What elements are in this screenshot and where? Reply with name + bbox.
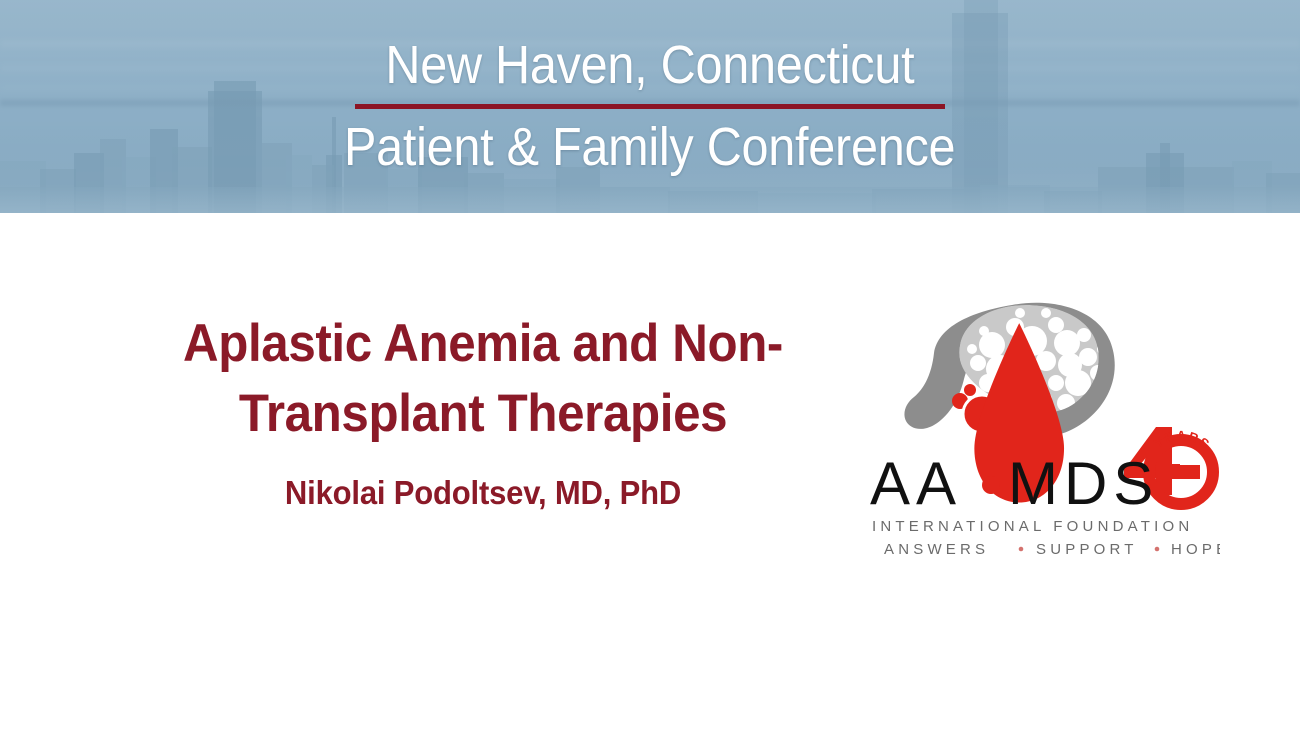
logo-tagline-secondary: ANSWERS: [884, 541, 989, 558]
wordmark-mds: MDS: [1008, 450, 1159, 517]
banner-divider-rule: [355, 104, 945, 109]
banner-conference-line: Patient & Family Conference: [344, 120, 955, 175]
tagline-dot-icon-2: [1155, 547, 1160, 552]
header-banner: New Haven, Connecticut Patient & Family …: [0, 0, 1300, 213]
logo-tagline-primary: INTERNATIONAL FOUNDATION: [872, 518, 1193, 535]
slide-root: New Haven, Connecticut Patient & Family …: [0, 0, 1300, 731]
wordmark-aa: AA: [870, 450, 962, 517]
wordmark-dot-icon: [982, 476, 1000, 494]
aamds-wordmark: AA MDS: [870, 450, 1159, 517]
banner-text-group: New Haven, Connecticut Patient & Family …: [0, 0, 1300, 213]
title-block: Aplastic Anemia and Non- Transplant Ther…: [30, 309, 936, 512]
tagline-dot-icon: [1019, 547, 1024, 552]
page-title-line-2: Transplant Therapies: [62, 379, 905, 449]
aamds-logo: YEARS AA MDS INTERNATIONAL FOUNDATION AN…: [860, 283, 1220, 573]
logo-tagline-secondary-3: HOPE: [1171, 541, 1220, 558]
aamds-logo-svg: YEARS AA MDS INTERNATIONAL FOUNDATION AN…: [860, 283, 1220, 573]
banner-location-line: New Haven, Connecticut: [386, 38, 915, 93]
page-title-line-1: Aplastic Anemia and Non-: [62, 309, 905, 379]
speaker-name: Nikolai Podoltsev, MD, PhD: [57, 474, 909, 512]
slide-body: Aplastic Anemia and Non- Transplant Ther…: [0, 213, 1300, 731]
logo-tagline-secondary-2: SUPPORT: [1036, 541, 1138, 558]
